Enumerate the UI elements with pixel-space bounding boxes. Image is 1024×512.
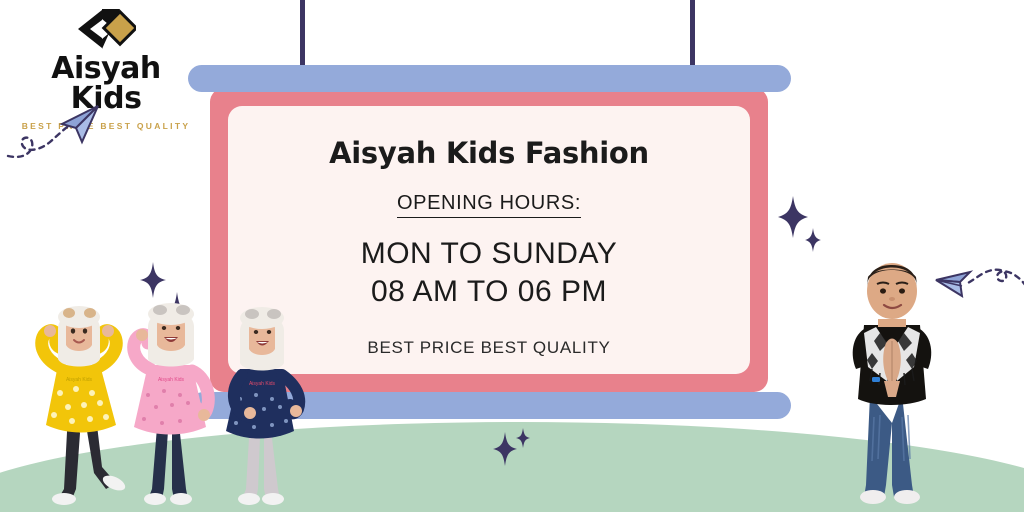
hours-line-1: MON TO SUNDAY xyxy=(361,235,618,273)
hours-line-2: 08 AM TO 06 PM xyxy=(361,273,618,311)
sparkle-icon xyxy=(516,428,530,448)
svg-text:Aisyah Kids: Aisyah Kids xyxy=(158,377,185,383)
opening-hours-label: OPENING HOURS: xyxy=(397,192,581,218)
svg-text:Aisyah Kids: Aisyah Kids xyxy=(66,377,93,383)
boy-in-black-tshirt-photo xyxy=(836,247,956,510)
page-title: Aisyah Kids Fashion xyxy=(329,136,649,170)
girl-in-pink-dress-photo: Aisyah Kids xyxy=(118,291,226,510)
sign-rope-left xyxy=(300,0,305,72)
sparkle-icon xyxy=(805,228,821,252)
svg-text:Aisyah Kids: Aisyah Kids xyxy=(249,381,276,387)
sign-bar-top xyxy=(188,65,791,92)
sign-tagline: BEST PRICE BEST QUALITY xyxy=(367,338,610,358)
poster-canvas: Aisyah Kids BEST PRICE BEST QUALITY xyxy=(0,0,1024,512)
paper-plane-right-icon xyxy=(6,98,106,169)
chevron-diamond-mark-icon xyxy=(76,6,136,52)
opening-hours-value: MON TO SUNDAY 08 AM TO 06 PM xyxy=(361,235,618,312)
sparkle-icon xyxy=(493,432,517,466)
girl-in-navy-dress-photo: Aisyah Kids xyxy=(212,297,316,510)
sparkle-icon xyxy=(778,196,808,238)
sign-rope-right xyxy=(690,0,695,72)
